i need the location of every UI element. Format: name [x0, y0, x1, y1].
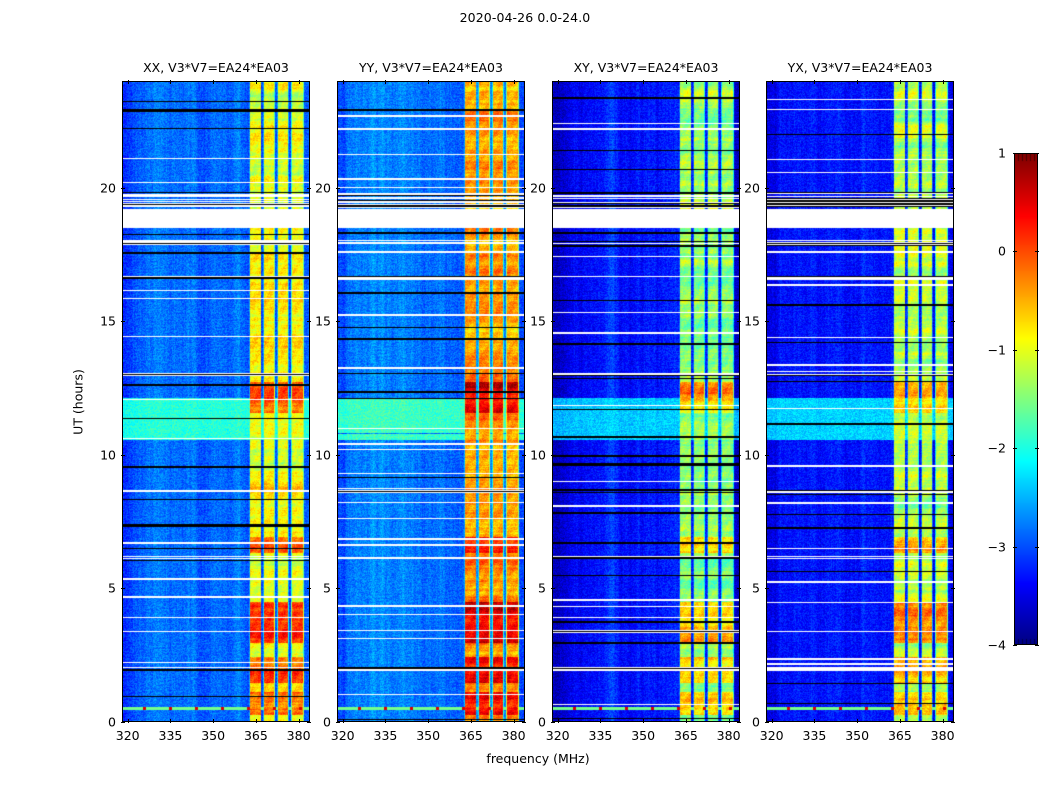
y-tick-label: 20	[90, 180, 116, 195]
subplot-xx: XX, V3*V7=EA24*EA03320335350365380051015…	[122, 81, 310, 722]
waterfall-pixels	[338, 82, 525, 722]
x-tick-top	[600, 80, 601, 84]
y-tick-right	[951, 188, 955, 189]
x-tick-label: 350	[201, 728, 225, 743]
y-tick-label: 10	[734, 447, 760, 462]
waterfall-image-xx[interactable]	[122, 81, 310, 722]
subplot-yx: YX, V3*V7=EA24*EA03320335350365380051015…	[766, 81, 954, 722]
subplot-yy: YY, V3*V7=EA24*EA03320335350365380051015…	[337, 81, 525, 722]
x-tick-label: 335	[373, 728, 397, 743]
subplot-title-yy: YY, V3*V7=EA24*EA03	[337, 60, 525, 75]
y-tick-right	[951, 455, 955, 456]
x-tick	[299, 719, 300, 723]
y-tick-label: 5	[305, 581, 331, 596]
x-tick-label: 380	[717, 728, 741, 743]
colorbar-tick-right	[1035, 153, 1039, 154]
y-tick-label: 10	[520, 447, 546, 462]
y-tick	[551, 455, 555, 456]
y-tick	[765, 588, 769, 589]
colorbar-tick	[1013, 645, 1017, 646]
x-tick-top	[514, 80, 515, 84]
figure-canvas: 2020-04-26 0.0-24.0 XX, V3*V7=EA24*EA033…	[0, 0, 1050, 800]
y-tick	[121, 321, 125, 322]
waterfall-pixels	[767, 82, 954, 722]
x-tick-label: 350	[845, 728, 869, 743]
y-tick-label: 15	[305, 314, 331, 329]
x-tick	[857, 719, 858, 723]
colorbar-tick	[1013, 350, 1017, 351]
x-tick-top	[643, 80, 644, 84]
y-tick-label: 15	[90, 314, 116, 329]
x-tick-top	[428, 80, 429, 84]
x-tick-label: 380	[931, 728, 955, 743]
x-tick-top	[170, 80, 171, 84]
colorbar-tick	[1013, 251, 1017, 252]
colorbar-tick-label: −1	[976, 342, 1006, 357]
waterfall-image-xy[interactable]	[552, 81, 740, 722]
x-tick	[385, 719, 386, 723]
subplot-xy: XY, V3*V7=EA24*EA03320335350365380051015…	[552, 81, 740, 722]
colorbar-tick-label: −2	[976, 441, 1006, 456]
y-tick	[765, 455, 769, 456]
x-tick-label: 365	[459, 728, 483, 743]
y-tick-label: 5	[520, 581, 546, 596]
x-tick-label: 380	[502, 728, 526, 743]
y-tick	[336, 455, 340, 456]
x-tick-label: 350	[416, 728, 440, 743]
y-tick-right	[951, 722, 955, 723]
x-tick-top	[256, 80, 257, 84]
colorbar-tick	[1013, 448, 1017, 449]
x-tick-label: 335	[158, 728, 182, 743]
x-tick	[729, 719, 730, 723]
y-tick-label: 15	[734, 314, 760, 329]
waterfall-image-yy[interactable]	[337, 81, 525, 722]
subplot-title-xx: XX, V3*V7=EA24*EA03	[122, 60, 310, 75]
x-tick	[686, 719, 687, 723]
colorbar-tick-label: 0	[976, 244, 1006, 259]
y-tick	[336, 188, 340, 189]
y-tick-label: 0	[305, 715, 331, 730]
x-tick-top	[213, 80, 214, 84]
x-tick	[514, 719, 515, 723]
x-tick-label: 335	[802, 728, 826, 743]
x-tick-label: 350	[631, 728, 655, 743]
x-tick	[128, 719, 129, 723]
x-tick-top	[299, 80, 300, 84]
colorbar-tick-label: 1	[976, 146, 1006, 161]
x-tick-top	[385, 80, 386, 84]
x-tick	[256, 719, 257, 723]
y-tick	[551, 722, 555, 723]
x-tick-label: 320	[760, 728, 784, 743]
x-tick-top	[343, 80, 344, 84]
colorbar-tick-label: −3	[976, 539, 1006, 554]
y-tick-label: 10	[90, 447, 116, 462]
y-tick-label: 10	[305, 447, 331, 462]
x-axis-label: frequency (MHz)	[486, 751, 589, 766]
y-tick	[551, 588, 555, 589]
x-tick-label: 365	[674, 728, 698, 743]
waterfall-pixels	[123, 82, 310, 722]
y-tick	[336, 321, 340, 322]
x-tick-label: 365	[244, 728, 268, 743]
x-tick-label: 365	[888, 728, 912, 743]
x-tick-top	[857, 80, 858, 84]
x-tick	[643, 719, 644, 723]
colorbar-tick-right	[1035, 547, 1039, 548]
x-tick-top	[558, 80, 559, 84]
figure-suptitle: 2020-04-26 0.0-24.0	[0, 10, 1050, 25]
x-tick	[814, 719, 815, 723]
y-tick-label: 20	[305, 180, 331, 195]
y-tick	[336, 722, 340, 723]
y-tick-label: 0	[734, 715, 760, 730]
y-tick-label: 5	[90, 581, 116, 596]
y-tick-label: 15	[520, 314, 546, 329]
y-tick-label: 20	[520, 180, 546, 195]
x-tick-top	[686, 80, 687, 84]
x-tick	[943, 719, 944, 723]
x-tick	[428, 719, 429, 723]
x-tick	[772, 719, 773, 723]
y-tick	[765, 188, 769, 189]
x-tick-top	[943, 80, 944, 84]
x-tick	[471, 719, 472, 723]
y-tick-label: 0	[90, 715, 116, 730]
y-tick	[121, 455, 125, 456]
x-tick-label: 335	[588, 728, 612, 743]
x-tick	[600, 719, 601, 723]
y-tick	[765, 321, 769, 322]
x-tick-label: 320	[331, 728, 355, 743]
y-tick-label: 5	[734, 581, 760, 596]
y-axis-label: UT (hours)	[71, 369, 86, 435]
colorbar-tick-right	[1035, 645, 1039, 646]
colorbar-tick-right	[1035, 251, 1039, 252]
x-tick-label: 320	[116, 728, 140, 743]
colorbar-tick-right	[1035, 350, 1039, 351]
y-tick	[765, 722, 769, 723]
colorbar-tick	[1013, 153, 1017, 154]
x-tick	[170, 719, 171, 723]
colorbar-tick	[1013, 547, 1017, 548]
x-tick-top	[729, 80, 730, 84]
y-tick	[336, 588, 340, 589]
waterfall-pixels	[553, 82, 740, 722]
y-tick-right	[951, 321, 955, 322]
x-tick	[900, 719, 901, 723]
waterfall-image-yx[interactable]	[766, 81, 954, 722]
x-tick	[558, 719, 559, 723]
y-tick	[121, 722, 125, 723]
x-tick-top	[814, 80, 815, 84]
y-tick	[121, 588, 125, 589]
x-tick-top	[772, 80, 773, 84]
y-tick-label: 0	[520, 715, 546, 730]
y-tick	[121, 188, 125, 189]
x-tick	[343, 719, 344, 723]
x-tick	[213, 719, 214, 723]
x-tick-top	[128, 80, 129, 84]
y-tick-label: 20	[734, 180, 760, 195]
x-tick-top	[900, 80, 901, 84]
subplot-title-xy: XY, V3*V7=EA24*EA03	[552, 60, 740, 75]
y-tick	[551, 321, 555, 322]
x-tick-label: 380	[287, 728, 311, 743]
colorbar-tick-right	[1035, 448, 1039, 449]
x-tick-label: 320	[546, 728, 570, 743]
y-tick	[551, 188, 555, 189]
y-tick-right	[951, 588, 955, 589]
colorbar-tick-label: −4	[976, 638, 1006, 653]
subplot-title-yx: YX, V3*V7=EA24*EA03	[766, 60, 954, 75]
colorbar[interactable]	[1014, 153, 1038, 645]
x-tick-top	[471, 80, 472, 84]
